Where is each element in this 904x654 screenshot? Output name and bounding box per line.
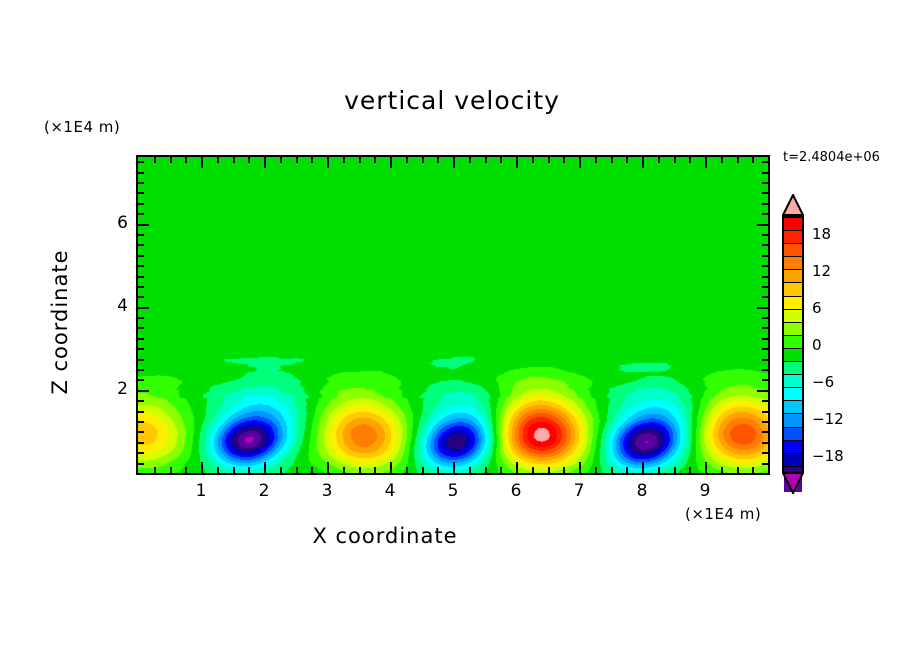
x-tick-label: 1 <box>181 481 221 501</box>
z-tick-right <box>762 400 768 402</box>
z-tick <box>138 390 149 392</box>
z-tick-label: 6 <box>88 213 128 233</box>
z-tick-label: 2 <box>88 379 128 399</box>
x-tick <box>721 467 723 473</box>
x-tick <box>705 462 707 473</box>
z-tick-right <box>762 182 768 184</box>
x-tick <box>532 467 534 473</box>
x-tick-label: 4 <box>370 481 410 501</box>
x-tick-top <box>532 157 534 163</box>
x-tick <box>233 467 235 473</box>
x-tick-label: 5 <box>433 481 473 501</box>
colorbar-tick-label: −12 <box>812 410 844 428</box>
x-tick-top <box>469 157 471 163</box>
colorbar-tick-label: 12 <box>812 262 831 280</box>
x-tick-top <box>705 157 707 168</box>
z-tick <box>138 338 144 340</box>
x-tick <box>359 467 361 473</box>
colorbar-tick-label: −6 <box>812 373 834 391</box>
colorbar-swatch <box>784 349 802 362</box>
colorbar-over-arrow-icon <box>782 194 804 216</box>
x-tick-top <box>689 157 691 163</box>
x-tick-label: 3 <box>307 481 347 501</box>
x-tick-top <box>374 157 376 163</box>
z-tick-right <box>757 390 768 392</box>
z-tick <box>138 400 144 402</box>
x-tick-top <box>185 157 187 163</box>
x-tick <box>327 462 329 473</box>
x-tick-top <box>579 157 581 168</box>
z-tick <box>138 213 144 215</box>
colorbar-tick-label: 6 <box>812 299 822 317</box>
z-tick-right <box>762 172 768 174</box>
z-tick <box>138 234 144 236</box>
x-tick-label: 6 <box>496 481 536 501</box>
z-tick <box>138 317 144 319</box>
z-tick-right <box>757 224 768 226</box>
z-tick <box>138 307 149 309</box>
z-tick-right <box>762 411 768 413</box>
z-tick-right <box>762 442 768 444</box>
colorbar-swatch <box>784 362 802 375</box>
x-tick-top <box>217 157 219 163</box>
x-tick-top <box>485 157 487 163</box>
x-tick <box>611 467 613 473</box>
x-tick-top <box>264 157 266 168</box>
z-tick-right <box>757 307 768 309</box>
x-tick <box>170 467 172 473</box>
z-tick <box>138 203 144 205</box>
x-tick <box>264 462 266 473</box>
z-tick-right <box>762 234 768 236</box>
x-tick-top <box>201 157 203 168</box>
x-tick <box>689 467 691 473</box>
x-tick <box>374 467 376 473</box>
x-tick <box>296 467 298 473</box>
colorbar-swatch <box>784 244 802 257</box>
colorbar-swatch <box>784 231 802 244</box>
colorbar-tick-label: 18 <box>812 225 831 243</box>
z-tick-right <box>762 379 768 381</box>
x-tick-top <box>280 157 282 163</box>
colorbar-swatch <box>784 414 802 427</box>
x-tick-top <box>642 157 644 168</box>
z-tick-right <box>762 192 768 194</box>
colorbar-swatch <box>784 270 802 283</box>
y-axis-unit-label: (×1E4 m) <box>44 118 120 136</box>
x-tick <box>469 467 471 473</box>
colorbar[interactable]: 181260−6−12−18 <box>776 196 810 516</box>
z-tick-right <box>762 276 768 278</box>
z-tick-right <box>762 369 768 371</box>
x-tick <box>248 467 250 473</box>
z-tick <box>138 276 144 278</box>
colorbar-swatch <box>784 218 802 231</box>
x-tick <box>626 467 628 473</box>
z-tick <box>138 359 144 361</box>
z-tick-right <box>762 255 768 257</box>
x-tick-top <box>563 157 565 163</box>
x-tick <box>642 462 644 473</box>
colorbar-swatch <box>784 401 802 414</box>
x-tick-top <box>437 157 439 163</box>
colorbar-tick-label: 0 <box>812 336 822 354</box>
x-tick-top <box>311 157 313 163</box>
x-tick <box>516 462 518 473</box>
z-tick <box>138 244 144 246</box>
x-tick-label: 7 <box>559 481 599 501</box>
colorbar-swatch <box>784 323 802 336</box>
x-tick <box>406 467 408 473</box>
z-tick-right <box>762 296 768 298</box>
z-tick <box>138 192 144 194</box>
x-tick <box>280 467 282 473</box>
z-tick-right <box>762 317 768 319</box>
z-tick <box>138 463 144 465</box>
x-tick-top <box>721 157 723 163</box>
z-tick <box>138 442 144 444</box>
x-tick-top <box>516 157 518 168</box>
x-tick <box>154 467 156 473</box>
x-tick <box>201 462 203 473</box>
z-tick-right <box>762 452 768 454</box>
z-tick <box>138 411 144 413</box>
timestamp-annotation: t=2.4804e+06 <box>783 150 880 165</box>
z-tick-right <box>762 348 768 350</box>
z-tick <box>138 369 144 371</box>
x-tick <box>453 462 455 473</box>
colorbar-swatch <box>784 454 802 467</box>
colorbar-swatch <box>784 257 802 270</box>
colorbar-swatch <box>784 283 802 296</box>
colorbar-swatch <box>784 375 802 388</box>
x-tick-label: 9 <box>685 481 725 501</box>
x-tick <box>658 467 660 473</box>
colorbar-swatch <box>784 388 802 401</box>
x-tick-top <box>406 157 408 163</box>
x-tick-top <box>611 157 613 163</box>
z-tick <box>138 431 144 433</box>
colorbar-swatch <box>784 428 802 441</box>
z-tick-right <box>762 463 768 465</box>
colorbar-swatch <box>784 336 802 349</box>
x-tick <box>563 467 565 473</box>
z-tick <box>138 161 144 163</box>
x-tick-top <box>595 157 597 163</box>
colorbar-swatch <box>784 310 802 323</box>
x-tick-top <box>674 157 676 163</box>
x-tick-top <box>170 157 172 163</box>
x-tick-top <box>343 157 345 163</box>
z-tick-right <box>762 431 768 433</box>
z-tick-right <box>762 213 768 215</box>
z-tick <box>138 327 144 329</box>
x-tick-top <box>248 157 250 163</box>
z-tick <box>138 182 144 184</box>
z-tick <box>138 255 144 257</box>
x-tick <box>343 467 345 473</box>
x-tick <box>185 467 187 473</box>
colorbar-under-arrow-icon <box>782 472 804 494</box>
x-tick-top <box>233 157 235 163</box>
x-tick-top <box>658 157 660 163</box>
z-tick <box>138 172 144 174</box>
x-tick <box>674 467 676 473</box>
x-tick-top <box>453 157 455 168</box>
x-tick <box>422 467 424 473</box>
colorbar-tick-label: −18 <box>812 447 844 465</box>
contour-plot-area[interactable] <box>136 155 770 475</box>
z-tick-right <box>762 203 768 205</box>
page-title: vertical velocity <box>0 86 904 115</box>
x-tick-label: 2 <box>244 481 284 501</box>
z-tick-right <box>762 244 768 246</box>
z-tick-right <box>762 161 768 163</box>
x-tick <box>217 467 219 473</box>
x-tick-top <box>548 157 550 163</box>
z-tick-right <box>762 265 768 267</box>
x-axis-unit-label: (×1E4 m) <box>685 505 761 523</box>
colorbar-gradient <box>782 216 804 474</box>
x-tick <box>595 467 597 473</box>
z-tick-label: 4 <box>88 296 128 316</box>
x-tick-top <box>359 157 361 163</box>
z-tick <box>138 296 144 298</box>
z-tick <box>138 379 144 381</box>
x-tick <box>437 467 439 473</box>
x-tick <box>390 462 392 473</box>
z-tick <box>138 348 144 350</box>
x-tick <box>311 467 313 473</box>
x-tick <box>752 467 754 473</box>
z-tick-right <box>762 286 768 288</box>
x-tick <box>548 467 550 473</box>
x-tick-top <box>500 157 502 163</box>
z-tick <box>138 224 149 226</box>
x-tick-top <box>737 157 739 163</box>
z-tick-right <box>762 338 768 340</box>
z-tick <box>138 265 144 267</box>
z-tick-right <box>762 421 768 423</box>
x-tick-top <box>626 157 628 163</box>
vertical-velocity-field <box>138 157 768 473</box>
x-tick-top <box>752 157 754 163</box>
colorbar-swatch <box>784 441 802 454</box>
x-tick-top <box>390 157 392 168</box>
x-tick-top <box>327 157 329 168</box>
x-tick <box>500 467 502 473</box>
x-tick-top <box>422 157 424 163</box>
x-axis-title: X coordinate <box>0 524 770 548</box>
x-tick <box>579 462 581 473</box>
x-tick-top <box>296 157 298 163</box>
x-tick <box>485 467 487 473</box>
z-tick-right <box>762 359 768 361</box>
z-tick-right <box>762 327 768 329</box>
x-tick-top <box>154 157 156 163</box>
z-tick <box>138 421 144 423</box>
colorbar-swatch <box>784 297 802 310</box>
y-axis-title: Z coordinate <box>48 232 72 412</box>
z-tick <box>138 286 144 288</box>
x-tick-label: 8 <box>622 481 662 501</box>
x-tick <box>737 467 739 473</box>
z-tick <box>138 452 144 454</box>
